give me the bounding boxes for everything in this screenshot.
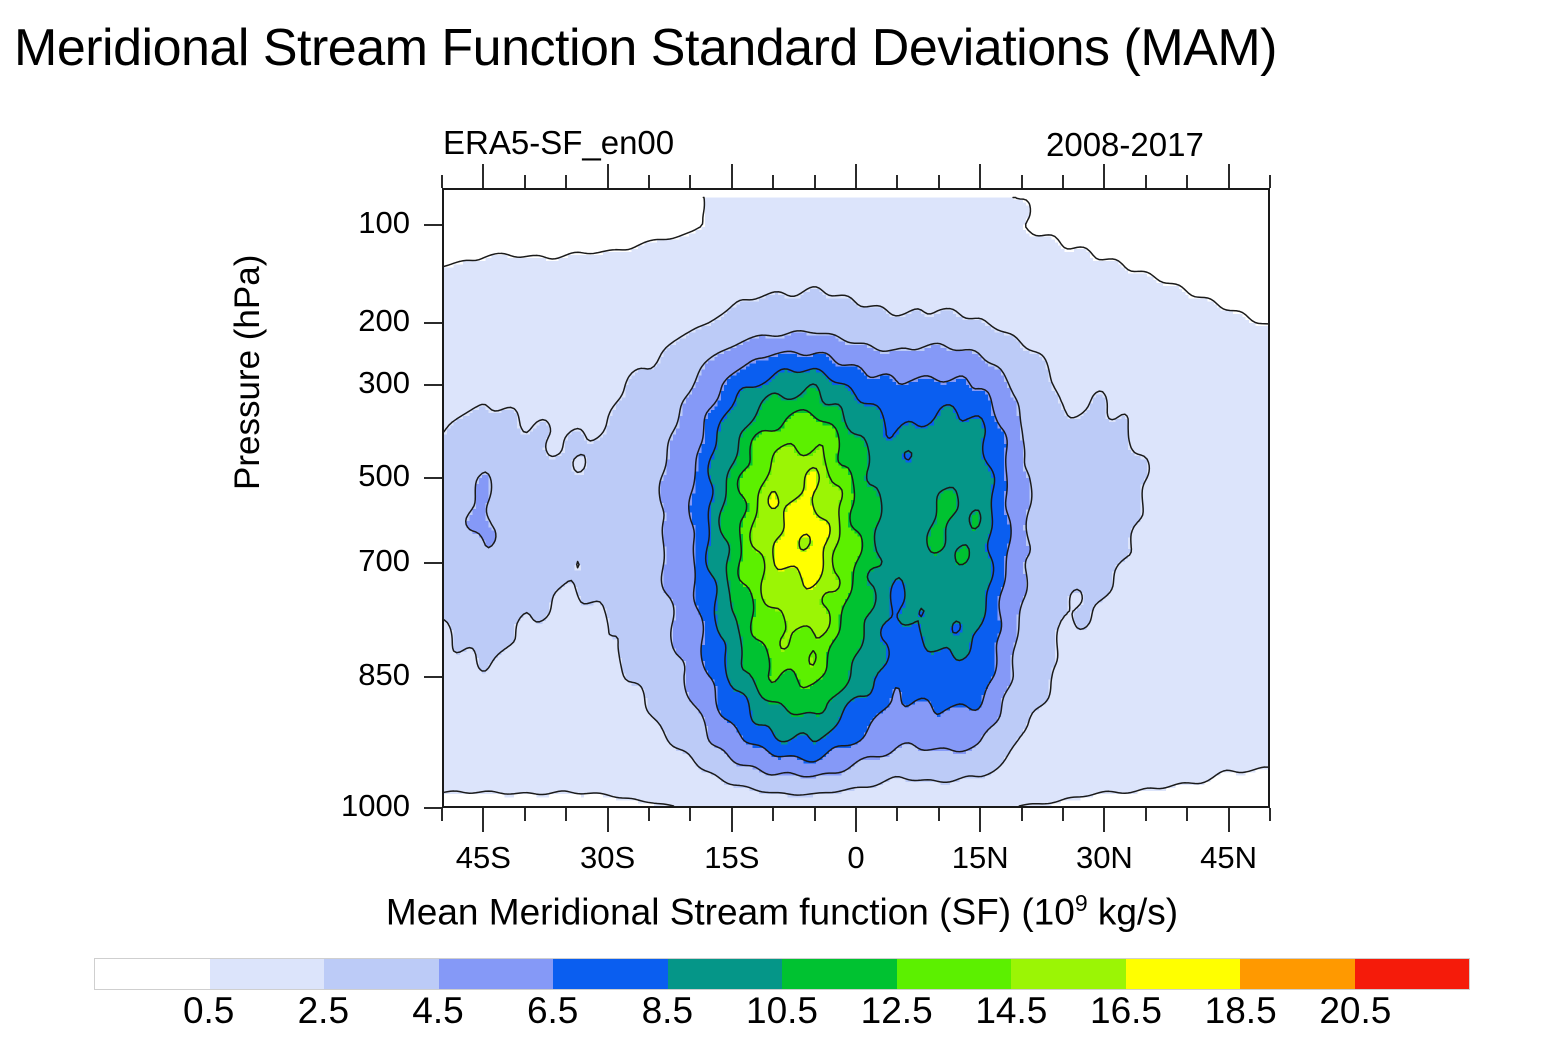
- colorbar-title-tail: kg/s): [1088, 891, 1178, 932]
- x-tick-label: 30S: [580, 840, 635, 876]
- x-tick: [855, 808, 857, 832]
- x-tick: [938, 175, 940, 188]
- colorbar-tick-label: 8.5: [642, 990, 693, 1032]
- y-tick: [424, 562, 442, 564]
- x-tick: [1228, 164, 1230, 188]
- colorbar-tick-label: 6.5: [527, 990, 578, 1032]
- y-axis-label: Pressure (hPa): [228, 255, 268, 490]
- x-tick-label: 30N: [1076, 840, 1133, 876]
- y-tick: [424, 807, 442, 809]
- y-tick: [424, 224, 442, 226]
- colorbar-swatch[interactable]: [95, 959, 210, 989]
- colorbar-swatch[interactable]: [1011, 959, 1126, 989]
- x-tick: [1021, 808, 1023, 821]
- y-tick: [424, 322, 442, 324]
- colorbar-labels: 0.52.54.56.58.510.512.514.516.518.520.5: [94, 990, 1470, 1040]
- y-tick-label: 1000: [0, 788, 410, 824]
- colorbar-tick-label: 20.5: [1319, 990, 1391, 1032]
- x-tick: [482, 808, 484, 832]
- colorbar-swatch[interactable]: [324, 959, 439, 989]
- x-tick: [607, 808, 609, 832]
- x-tick: [1186, 175, 1188, 188]
- contour-plot: [442, 188, 1270, 808]
- x-tick: [896, 175, 898, 188]
- y-tick: [424, 384, 442, 386]
- page-title: Meridional Stream Function Standard Devi…: [14, 18, 1554, 78]
- colorbar-swatch[interactable]: [897, 959, 1012, 989]
- x-tick-label: 15N: [952, 840, 1009, 876]
- x-tick: [814, 175, 816, 188]
- colorbar-title: Mean Meridional Stream function (SF) (10…: [0, 890, 1564, 933]
- x-tick: [731, 164, 733, 188]
- x-tick: [896, 808, 898, 821]
- x-tick: [731, 808, 733, 832]
- x-tick: [565, 175, 567, 188]
- colorbar-swatch[interactable]: [553, 959, 668, 989]
- x-tick: [607, 164, 609, 188]
- colorbar-swatch[interactable]: [1126, 959, 1241, 989]
- x-tick: [441, 175, 443, 188]
- colorbar-tick-label: 10.5: [746, 990, 818, 1032]
- x-tick: [1228, 808, 1230, 832]
- colorbar-swatch[interactable]: [1240, 959, 1355, 989]
- x-tick: [1103, 808, 1105, 832]
- period-label: 2008-2017: [1046, 126, 1204, 164]
- colorbar-tick-label: 2.5: [298, 990, 349, 1032]
- x-tick: [1269, 175, 1271, 188]
- x-tick: [814, 808, 816, 821]
- x-tick-label: 0: [847, 840, 864, 876]
- contour-field: [444, 190, 1268, 806]
- x-tick: [1269, 808, 1271, 821]
- colorbar-tick-label: 18.5: [1205, 990, 1277, 1032]
- x-tick: [524, 175, 526, 188]
- x-tick-label: 45N: [1200, 840, 1257, 876]
- colorbar-swatch[interactable]: [210, 959, 325, 989]
- colorbar-tick-label: 16.5: [1090, 990, 1162, 1032]
- colorbar-tick-label: 4.5: [412, 990, 463, 1032]
- x-tick: [648, 808, 650, 821]
- y-tick-label: 500: [0, 458, 410, 494]
- x-tick: [441, 808, 443, 821]
- x-tick: [1021, 175, 1023, 188]
- x-tick: [565, 808, 567, 821]
- colorbar-title-exponent: 9: [1075, 890, 1088, 916]
- x-tick: [1062, 808, 1064, 821]
- colorbar[interactable]: [94, 958, 1470, 990]
- colorbar-tick-label: 14.5: [975, 990, 1047, 1032]
- x-tick: [1186, 808, 1188, 821]
- x-tick: [524, 808, 526, 821]
- y-tick-label: 850: [0, 657, 410, 693]
- colorbar-swatch[interactable]: [668, 959, 783, 989]
- y-tick-label: 100: [0, 205, 410, 241]
- colorbar-tick-label: 0.5: [183, 990, 234, 1032]
- y-tick: [424, 477, 442, 479]
- x-tick: [1145, 175, 1147, 188]
- colorbar-swatch[interactable]: [439, 959, 554, 989]
- colorbar-swatch[interactable]: [782, 959, 897, 989]
- x-tick-label: 15S: [704, 840, 759, 876]
- colorbar-title-main: Mean Meridional Stream function (SF) (10: [386, 891, 1075, 932]
- x-tick: [772, 175, 774, 188]
- x-tick: [772, 808, 774, 821]
- x-tick: [855, 164, 857, 188]
- dataset-label: ERA5-SF_en00: [443, 124, 674, 162]
- y-tick-label: 300: [0, 365, 410, 401]
- colorbar-swatch[interactable]: [1355, 959, 1470, 989]
- x-tick: [689, 808, 691, 821]
- x-tick: [1103, 164, 1105, 188]
- x-tick: [1145, 808, 1147, 821]
- x-tick: [938, 808, 940, 821]
- x-tick: [979, 164, 981, 188]
- x-tick: [482, 164, 484, 188]
- x-tick: [648, 175, 650, 188]
- y-tick-label: 200: [0, 303, 410, 339]
- y-tick: [424, 676, 442, 678]
- x-tick: [689, 175, 691, 188]
- x-tick: [979, 808, 981, 832]
- x-tick-label: 45S: [456, 840, 511, 876]
- colorbar-tick-label: 12.5: [861, 990, 933, 1032]
- x-tick: [1062, 175, 1064, 188]
- y-tick-label: 700: [0, 543, 410, 579]
